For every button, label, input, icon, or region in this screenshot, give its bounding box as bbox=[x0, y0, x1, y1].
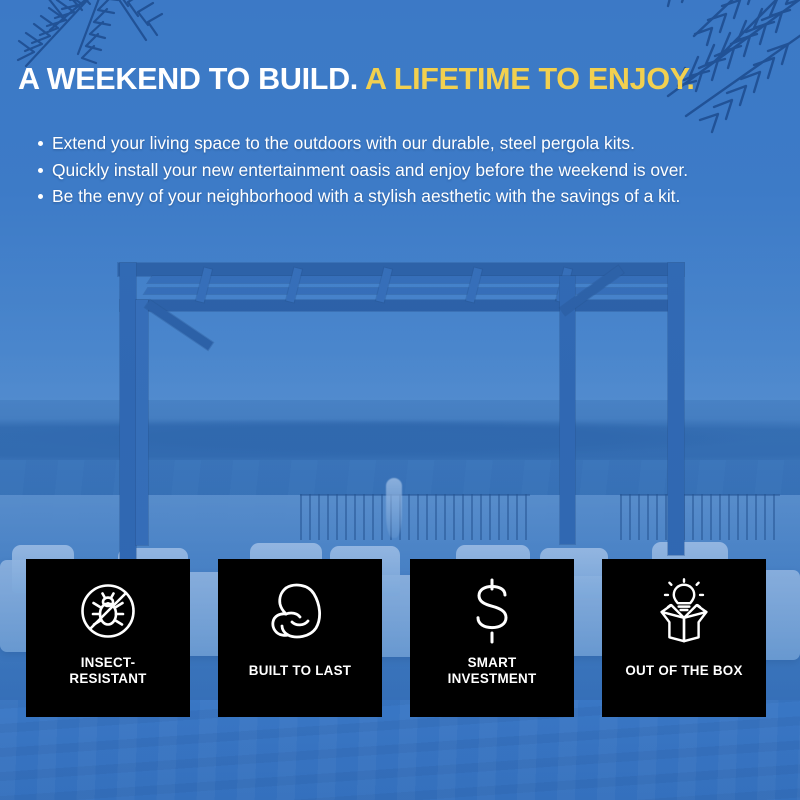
feature-card-label: SMART INVESTMENT bbox=[442, 655, 543, 688]
headline-part-yellow: A LIFETIME TO ENJOY. bbox=[365, 62, 695, 96]
lightbulb-open-box-icon bbox=[648, 575, 720, 647]
promo-graphic: A WEEKEND TO BUILD. A LIFETIME TO ENJOY.… bbox=[0, 0, 800, 800]
feature-card-insect-resistant[interactable]: INSECT- RESISTANT bbox=[26, 559, 190, 717]
no-insect-icon bbox=[72, 575, 144, 647]
flexed-bicep-icon bbox=[264, 575, 336, 647]
feature-card-smart-investment[interactable]: SMART INVESTMENT bbox=[410, 559, 574, 717]
feature-card-label: OUT OF THE BOX bbox=[619, 663, 748, 679]
feature-card-row: INSECT- RESISTANT BUILT TO LAST bbox=[26, 559, 766, 717]
feature-card-label: BUILT TO LAST bbox=[243, 663, 357, 679]
headline-part-white: A WEEKEND TO BUILD. bbox=[18, 62, 358, 96]
feature-card-out-of-the-box[interactable]: OUT OF THE BOX bbox=[602, 559, 766, 717]
headline: A WEEKEND TO BUILD. A LIFETIME TO ENJOY. bbox=[18, 63, 788, 95]
bullet-item: Be the envy of your neighborhood with a … bbox=[52, 184, 800, 210]
bullet-item: Quickly install your new entertainment o… bbox=[52, 158, 800, 184]
feature-card-label: INSECT- RESISTANT bbox=[63, 655, 152, 688]
dollar-sign-icon bbox=[456, 575, 528, 647]
feature-card-built-to-last[interactable]: BUILT TO LAST bbox=[218, 559, 382, 717]
benefit-bullet-list: Extend your living space to the outdoors… bbox=[30, 131, 800, 211]
bullet-item: Extend your living space to the outdoors… bbox=[52, 131, 800, 157]
